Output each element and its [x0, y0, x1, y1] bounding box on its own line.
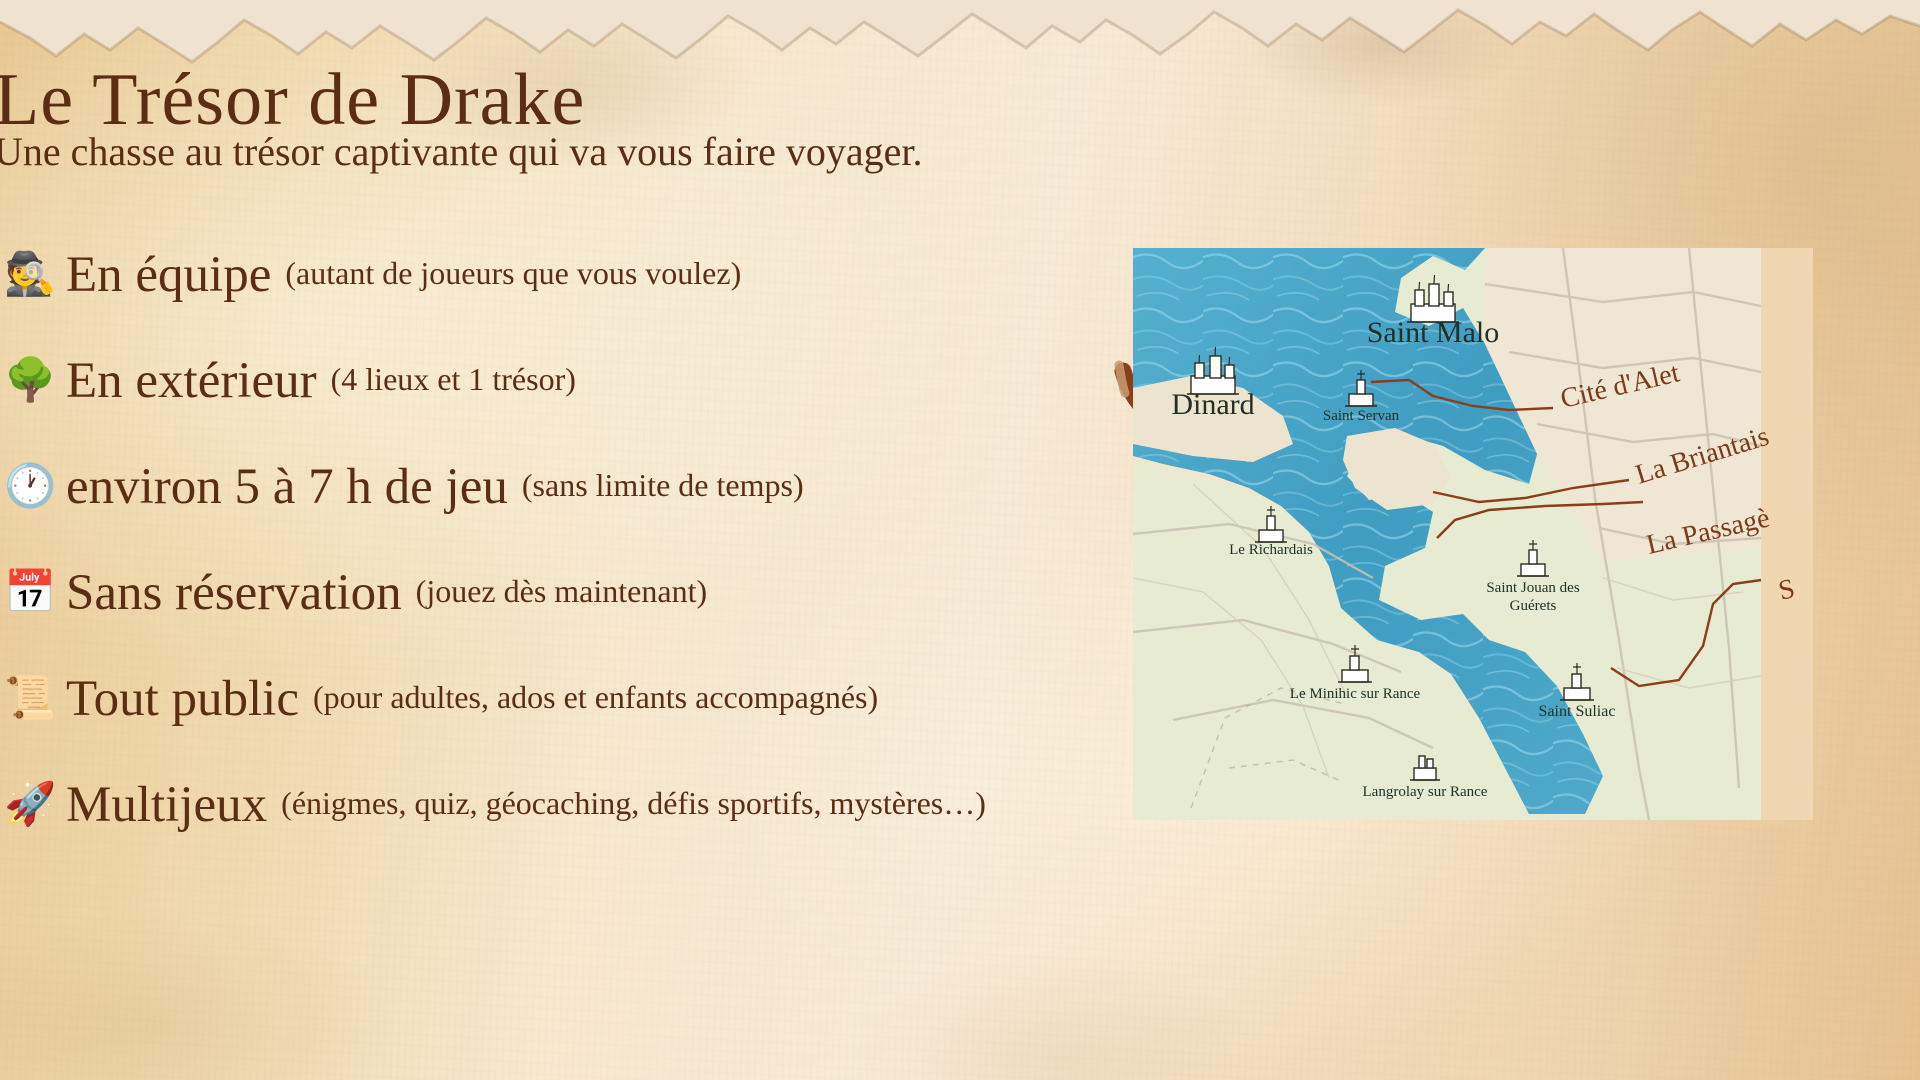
map-town-label: Dinard	[1171, 388, 1254, 421]
feature-note: (sans limite de temps)	[522, 467, 804, 507]
text-column: Le Trésor de Drake Une chasse au trésor …	[0, 0, 1150, 1080]
calendar-icon: 📅	[4, 572, 66, 614]
clock-icon: 🕐	[4, 466, 66, 508]
feature-label: Tout public	[66, 670, 299, 728]
feature-label: Sans réservation	[66, 564, 402, 622]
map-town-label: Saint Servan	[1323, 408, 1400, 424]
feature-note: (jouez dès maintenant)	[416, 573, 707, 613]
rocket-icon: 🚀	[4, 784, 66, 826]
list-item: 🌳 En extérieur (4 lieux et 1 trésor)	[0, 328, 1150, 434]
map-panel[interactable]: Saint Malo Dinard Saint Servan Le Richar…	[1133, 248, 1813, 820]
poster-root: Le Trésor de Drake Une chasse au trésor …	[0, 0, 1920, 1080]
list-item: 🚀 Multijeux (énigmes, quiz, géocaching, …	[0, 752, 1150, 858]
feature-label: En extérieur	[66, 352, 317, 410]
detective-icon: 🕵️	[4, 254, 66, 296]
list-item: 🕵️ En équipe (autant de joueurs que vous…	[0, 222, 1150, 328]
feature-note: (4 lieux et 1 trésor)	[331, 361, 576, 401]
feature-note: (autant de joueurs que vous voulez)	[285, 255, 741, 295]
map-town-label: Saint Malo	[1367, 316, 1500, 349]
map-town-label: Le Richardais	[1229, 542, 1313, 558]
feature-label: En équipe	[66, 246, 271, 304]
feature-note: (énigmes, quiz, géocaching, défis sporti…	[281, 785, 986, 825]
map-town-label: Saint Suliac	[1539, 703, 1616, 720]
scroll-icon: 📜	[4, 678, 66, 720]
map-svg: Saint Malo Dinard Saint Servan Le Richar…	[1133, 248, 1813, 820]
map-town-label: Saint Jouan des	[1486, 580, 1579, 596]
feature-note: (pour adultes, ados et enfants accompagn…	[313, 679, 878, 719]
list-item: 🕐 environ 5 à 7 h de jeu (sans limite de…	[0, 434, 1150, 540]
list-item: 📜 Tout public (pour adultes, ados et enf…	[0, 646, 1150, 752]
feature-label: environ 5 à 7 h de jeu	[66, 458, 508, 516]
feature-list: 🕵️ En équipe (autant de joueurs que vous…	[0, 222, 1150, 858]
tree-icon: 🌳	[4, 360, 66, 402]
page-subtitle: Une chasse au trésor captivante qui va v…	[0, 128, 923, 175]
map-town-label: Le Minihic sur Rance	[1290, 686, 1421, 702]
map-town-label: Langrolay sur Rance	[1363, 784, 1488, 800]
feature-label: Multijeux	[66, 776, 267, 834]
list-item: 📅 Sans réservation (jouez dès maintenant…	[0, 540, 1150, 646]
map-town-label: Guérets	[1510, 598, 1557, 614]
